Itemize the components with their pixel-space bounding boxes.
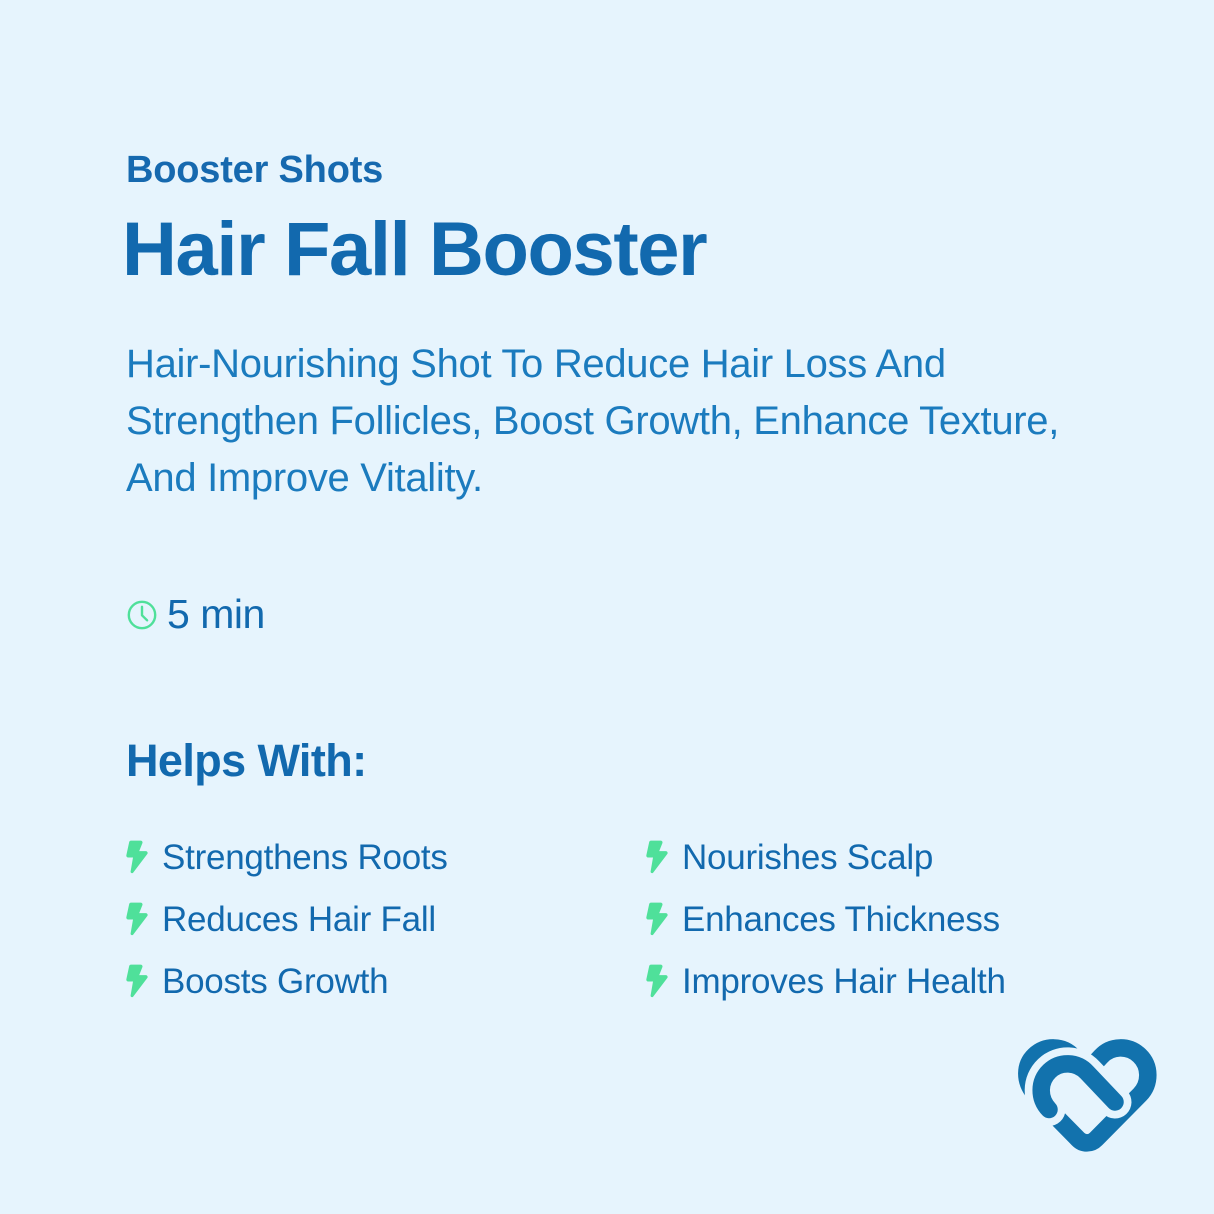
duration-value: 5 min [167, 594, 265, 635]
benefit-label: Boosts Growth [162, 964, 388, 999]
page-title: Hair Fall Booster [122, 209, 706, 291]
list-item: Improves Hair Health [646, 950, 1086, 1012]
list-item: Nourishes Scalp [646, 826, 1086, 888]
duration-row: 5 min [126, 594, 265, 635]
heart-logo-icon [1014, 1035, 1160, 1155]
product-description: Hair-Nourishing Shot To Reduce Hair Loss… [126, 336, 1066, 506]
helps-with-heading: Helps With: [126, 736, 366, 786]
lightning-bolt-icon [126, 902, 149, 936]
benefit-label: Nourishes Scalp [682, 840, 933, 875]
list-item: Strengthens Roots [126, 826, 646, 888]
benefit-label: Strengthens Roots [162, 840, 448, 875]
category-eyebrow: Booster Shots [126, 150, 383, 192]
benefit-label: Improves Hair Health [682, 964, 1006, 999]
benefit-label: Reduces Hair Fall [162, 902, 436, 937]
lightning-bolt-icon [646, 964, 669, 998]
list-item: Reduces Hair Fall [126, 888, 646, 950]
lightning-bolt-icon [126, 964, 149, 998]
product-info-card: Booster Shots Hair Fall Booster Hair-Nou… [0, 0, 1214, 1214]
lightning-bolt-icon [646, 840, 669, 874]
list-item: Enhances Thickness [646, 888, 1086, 950]
lightning-bolt-icon [126, 840, 149, 874]
benefits-list: Strengthens Roots Nourishes Scalp Reduce… [126, 826, 1086, 1012]
clock-icon [126, 599, 158, 631]
benefit-label: Enhances Thickness [682, 902, 1000, 937]
lightning-bolt-icon [646, 902, 669, 936]
list-item: Boosts Growth [126, 950, 646, 1012]
